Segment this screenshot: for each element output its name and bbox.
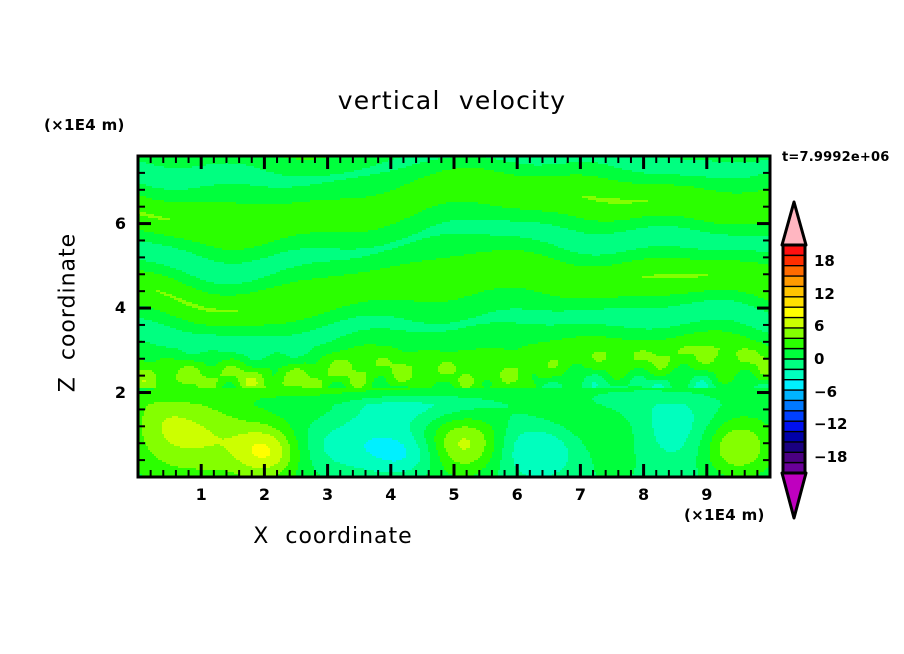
x-tick-label: 5 bbox=[439, 485, 469, 504]
colorbar-band bbox=[783, 245, 805, 256]
colorbar-tick-label: 12 bbox=[814, 285, 835, 303]
colorbar-band bbox=[783, 328, 805, 339]
colorbar-band bbox=[783, 452, 805, 463]
colorbar-bands bbox=[783, 245, 805, 474]
y-tick-label: 4 bbox=[96, 298, 126, 317]
x-tick-label: 9 bbox=[692, 485, 722, 504]
colorbar-tick-label: 18 bbox=[814, 252, 835, 270]
colorbar-band bbox=[783, 297, 805, 308]
colorbar-band bbox=[783, 338, 805, 349]
colorbar bbox=[782, 202, 806, 518]
y-tick-label: 6 bbox=[96, 214, 126, 233]
colorbar-band bbox=[783, 318, 805, 329]
colorbar-band bbox=[783, 432, 805, 443]
colorbar-band bbox=[783, 380, 805, 391]
colorbar-band bbox=[783, 307, 805, 318]
colorbar-band bbox=[783, 349, 805, 360]
colorbar-band bbox=[783, 442, 805, 453]
figure-canvas: vertical velocity (×1E4 m) (×1E4 m) t=7.… bbox=[0, 0, 904, 654]
colorbar-band bbox=[783, 390, 805, 401]
y-tick-label: 2 bbox=[96, 383, 126, 402]
colorbar-under-arrow bbox=[782, 473, 806, 518]
colorbar-band bbox=[783, 359, 805, 370]
colorbar-over-arrow bbox=[782, 202, 806, 245]
x-tick-label: 8 bbox=[629, 485, 659, 504]
x-tick-label: 7 bbox=[565, 485, 595, 504]
colorbar-band bbox=[783, 276, 805, 287]
x-tick-label: 2 bbox=[249, 485, 279, 504]
colorbar-band bbox=[783, 400, 805, 411]
colorbar-band bbox=[783, 421, 805, 432]
colorbar-tick-label: 0 bbox=[814, 350, 824, 368]
colorbar-tick-label: −6 bbox=[814, 383, 837, 401]
x-tick-label: 6 bbox=[502, 485, 532, 504]
colorbar-band bbox=[783, 286, 805, 297]
x-tick-label: 1 bbox=[186, 485, 216, 504]
colorbar-band bbox=[783, 369, 805, 380]
colorbar-band bbox=[783, 255, 805, 266]
colorbar-tick-label: 6 bbox=[814, 317, 824, 335]
colorbar-tick-label: −12 bbox=[814, 415, 847, 433]
colorbar-band bbox=[783, 266, 805, 277]
contour-band bbox=[252, 444, 270, 458]
x-tick-label: 3 bbox=[313, 485, 343, 504]
plot-svg bbox=[0, 0, 904, 654]
x-tick-label: 4 bbox=[376, 485, 406, 504]
colorbar-band bbox=[783, 411, 805, 422]
contour-field bbox=[138, 156, 770, 478]
colorbar-tick-label: −18 bbox=[814, 448, 847, 466]
